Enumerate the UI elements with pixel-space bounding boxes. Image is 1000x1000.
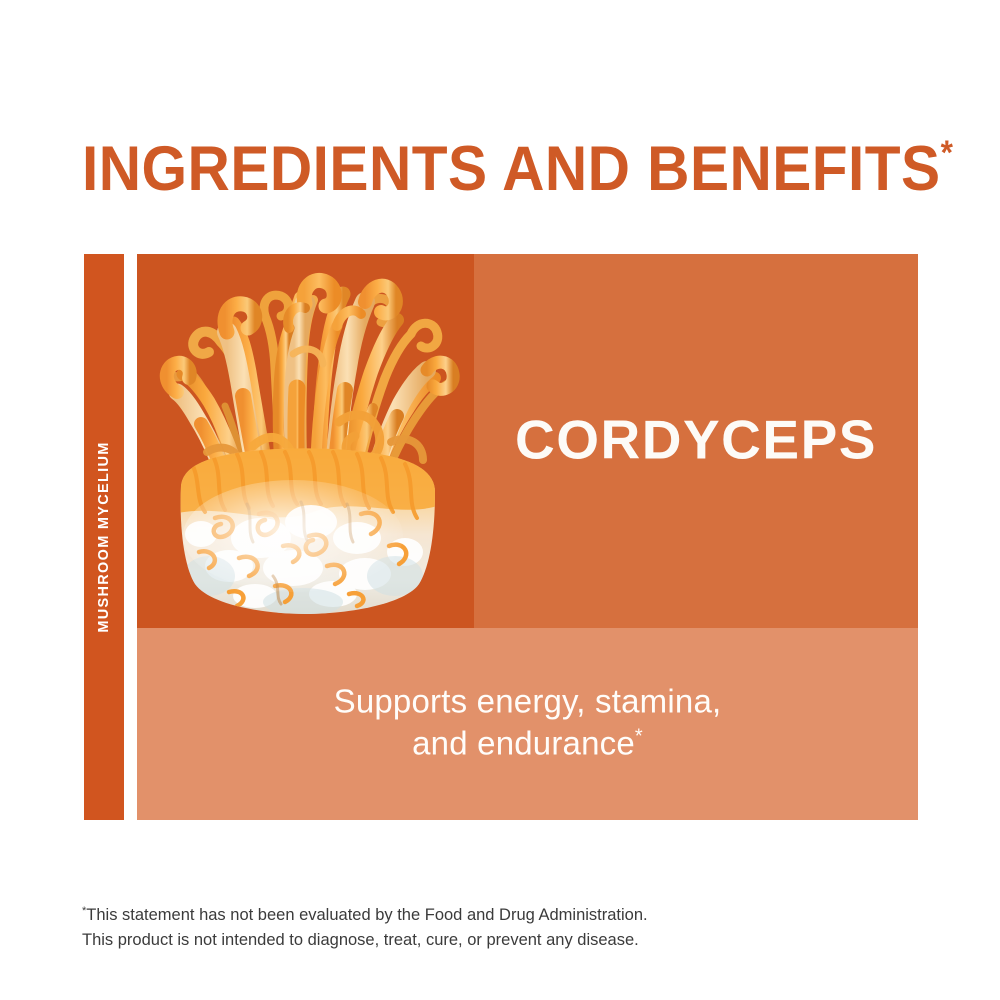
fda-disclaimer-line-1-text: This statement has not been evaluated by… bbox=[86, 906, 647, 924]
ingredient-card: CORDYCEPS Supports energy, stamina,and e… bbox=[137, 254, 918, 820]
cordyceps-mushroom-image bbox=[143, 254, 468, 628]
ingredient-benefit-panel: Supports energy, stamina,and endurance* bbox=[137, 628, 918, 820]
page-title-footnote-marker: * bbox=[941, 134, 953, 172]
benefit-line-2: and endurance bbox=[412, 724, 635, 761]
page-title-text: INGREDIENTS AND BENEFITS bbox=[82, 134, 941, 204]
page-title: INGREDIENTS AND BENEFITS* bbox=[82, 118, 882, 188]
category-sidebar: MUSHROOM MYCELIUM bbox=[84, 254, 124, 820]
fda-disclaimer-line-2: This product is not intended to diagnose… bbox=[82, 928, 862, 953]
ingredient-benefit-text: Supports energy, stamina,and endurance* bbox=[137, 680, 918, 764]
ingredient-title-panel: CORDYCEPS bbox=[474, 254, 918, 628]
ingredient-card-top-row: CORDYCEPS bbox=[137, 254, 918, 628]
ingredient-name: CORDYCEPS bbox=[474, 412, 918, 467]
fda-disclaimer: *This statement has not been evaluated b… bbox=[82, 903, 862, 953]
fda-disclaimer-line-1: *This statement has not been evaluated b… bbox=[82, 903, 862, 928]
benefit-line-1: Supports energy, stamina, bbox=[334, 682, 722, 719]
benefit-footnote-marker: * bbox=[635, 725, 643, 747]
category-sidebar-label: MUSHROOM MYCELIUM bbox=[96, 441, 112, 632]
ingredient-image-panel bbox=[137, 254, 474, 628]
